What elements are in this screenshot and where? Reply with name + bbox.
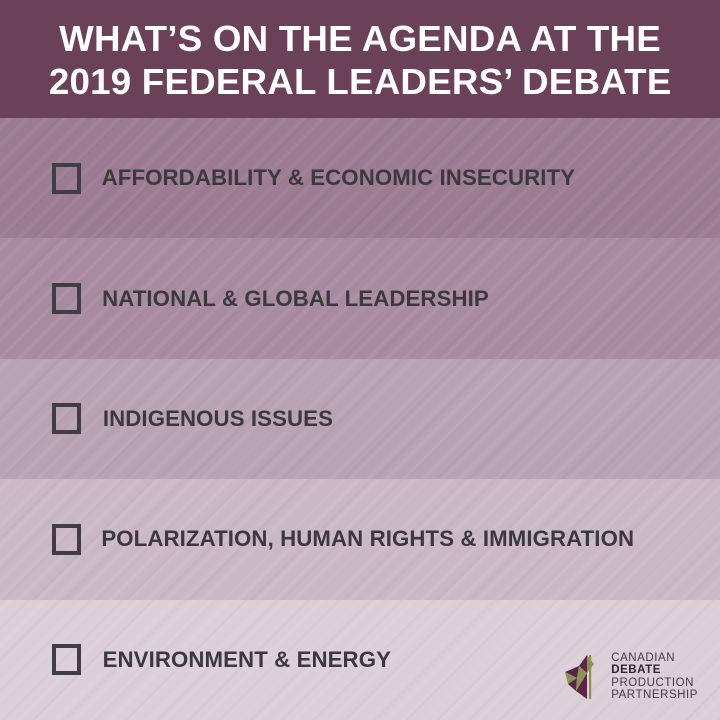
agenda-item-national-global-leadership[interactable]: NATIONAL & GLOBAL LEADERSHIP (0, 238, 720, 358)
agenda-item-label: POLARIZATION, HUMAN RIGHTS & IMMIGRATION (101, 526, 634, 552)
agenda-item-label: NATIONAL & GLOBAL LEADERSHIP (102, 286, 489, 312)
agenda-item-label: AFFORDABILITY & ECONOMIC INSECURITY (102, 165, 575, 191)
page-title-line-1: WHAT’S ON THE AGENDA AT THE (59, 17, 661, 60)
logo-line-partnership: PARTNERSHIP (611, 689, 698, 702)
checkbox-icon[interactable] (52, 163, 81, 194)
agenda-item-polarization-human-rights-immigration[interactable]: POLARIZATION, HUMAN RIGHTS & IMMIGRATION (0, 479, 720, 599)
agenda-list: AFFORDABILITY & ECONOMIC INSECURITY NATI… (0, 118, 720, 720)
page-title-line-2: 2019 FEDERAL LEADERS’ DEBATE (49, 60, 672, 103)
cdpp-logo-mark-icon (560, 653, 602, 701)
checkbox-icon[interactable] (52, 644, 81, 675)
logo-line-production: PRODUCTION (611, 677, 698, 690)
checkbox-icon[interactable] (52, 524, 81, 555)
cdpp-logo: CANADIAN DEBATE PRODUCTION PARTNERSHIP (560, 652, 698, 702)
infographic-poster: WHAT’S ON THE AGENDA AT THE 2019 FEDERAL… (0, 0, 720, 720)
agenda-item-affordability[interactable]: AFFORDABILITY & ECONOMIC INSECURITY (0, 118, 720, 238)
agenda-item-indigenous-issues[interactable]: INDIGENOUS ISSUES (0, 359, 720, 479)
cdpp-logo-wordmark: CANADIAN DEBATE PRODUCTION PARTNERSHIP (611, 652, 698, 702)
logo-line-debate: DEBATE (611, 664, 698, 677)
logo-line-canadian: CANADIAN (611, 652, 698, 665)
poster-header: WHAT’S ON THE AGENDA AT THE 2019 FEDERAL… (0, 0, 720, 118)
checkbox-icon[interactable] (52, 283, 81, 314)
agenda-item-label: INDIGENOUS ISSUES (103, 406, 333, 432)
agenda-item-label: ENVIRONMENT & ENERGY (103, 647, 391, 673)
checkbox-icon[interactable] (52, 403, 81, 434)
